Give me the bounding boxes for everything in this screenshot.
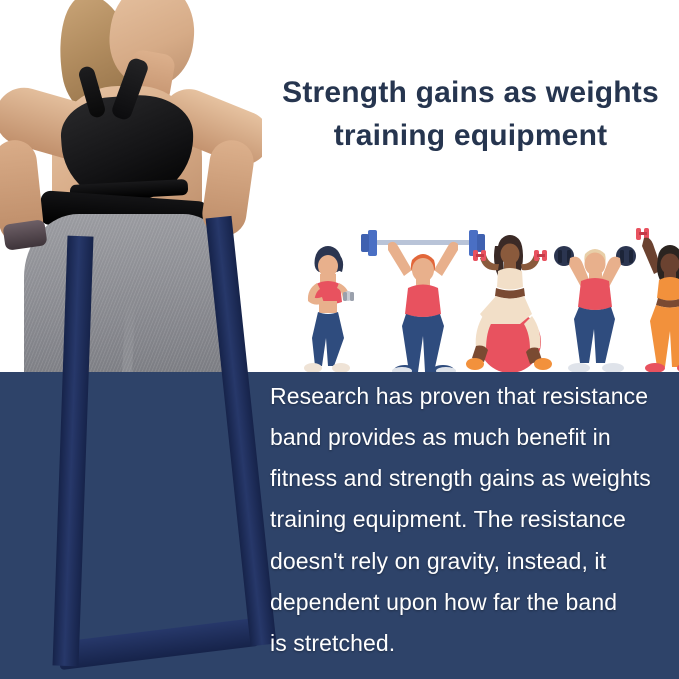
body-line-5: doesn't rely on gravity, instead, it bbox=[270, 541, 674, 582]
figure-woman-dumbbell-curl-icon bbox=[290, 244, 366, 374]
body-line-4: training equipment. The resistance bbox=[270, 499, 674, 540]
description-text: Research has proven that resistance band… bbox=[270, 376, 674, 664]
headline: Strength gains as weights training equip… bbox=[262, 72, 679, 157]
headline-line-2: training equipment bbox=[262, 115, 679, 158]
figure-woman-arms-raised-icon bbox=[628, 224, 679, 374]
fitness-figures-strip bbox=[262, 216, 679, 374]
figure-woman-stability-ball-icon bbox=[458, 234, 562, 374]
body-line-1: Research has proven that resistance bbox=[270, 376, 674, 417]
body-line-6: dependent upon how far the band bbox=[270, 582, 674, 623]
body-line-7: is stretched. bbox=[270, 623, 674, 664]
product-marketing-image: Strength gains as weights training equip… bbox=[0, 0, 679, 679]
headline-line-1: Strength gains as weights bbox=[262, 72, 679, 115]
body-line-3: fitness and strength gains as weights bbox=[270, 458, 674, 499]
figure-man-shoulder-press-icon bbox=[552, 234, 638, 374]
body-line-2: band provides as much benefit in bbox=[270, 417, 674, 458]
